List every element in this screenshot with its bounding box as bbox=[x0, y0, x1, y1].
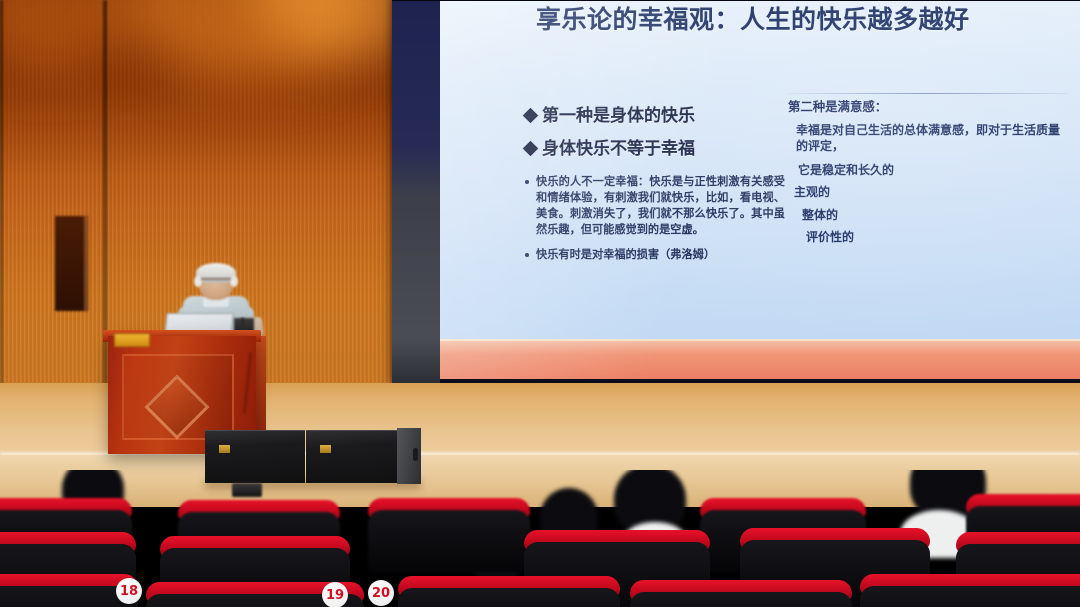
lecture-hall-photo: 享乐论的幸福观：人生的快乐越多越好 第一种是身体的快乐 身体快乐不等于幸福 快乐… bbox=[0, 0, 1080, 607]
door-light-edge bbox=[84, 216, 88, 311]
speaker-brand-badge-icon bbox=[219, 445, 230, 453]
seat-back bbox=[398, 588, 620, 607]
bullet-text: 快乐的人不一定幸福：快乐是与正性刺激有关感受和情绪体验，有刺激我们就快乐，比如，… bbox=[536, 173, 785, 238]
diamond-bullet-icon bbox=[523, 108, 539, 124]
speaker-brand-badge-icon bbox=[320, 445, 331, 453]
wall-shadow-band bbox=[0, 0, 400, 175]
seat-number-badge: 18 bbox=[116, 578, 142, 604]
slide-right-column: 第二种是满意感： 幸福是对自己生活的总体满意感，即对于生活质量的评定， 它是稳定… bbox=[788, 99, 1070, 253]
right-column-item: 整体的 bbox=[802, 208, 1070, 224]
auditorium-seat[interactable] bbox=[860, 574, 1080, 607]
wall-panel-seam bbox=[103, 0, 107, 430]
slide-bullet-item: 快乐的人不一定幸福：快乐是与正性刺激有关感受和情绪体验，有刺激我们就快乐，比如，… bbox=[525, 173, 785, 238]
auditorium-seat[interactable] bbox=[398, 576, 620, 607]
auditorium-seat[interactable] bbox=[630, 580, 852, 607]
screen-left-bezel bbox=[392, 0, 440, 386]
slide-left-column: 第一种是身体的快乐 身体快乐不等于幸福 快乐的人不一定幸福：快乐是与正性刺激有关… bbox=[525, 106, 785, 271]
heading-text: 身体快乐不等于幸福 bbox=[542, 139, 695, 160]
podium-nameplate bbox=[114, 333, 150, 347]
diamond-bullet-icon bbox=[523, 141, 539, 157]
heading-text: 第一种是身体的快乐 bbox=[542, 106, 695, 127]
slide-footer-band bbox=[440, 339, 1080, 379]
right-column-item: 它是稳定和长久的 bbox=[798, 163, 1070, 179]
speaker-ear-right bbox=[230, 276, 238, 287]
seat-back bbox=[630, 592, 852, 607]
round-bullet-icon bbox=[525, 180, 529, 184]
round-bullet-icon bbox=[525, 253, 529, 257]
right-column-paragraph: 幸福是对自己生活的总体满意感，即对于生活质量的评定， bbox=[796, 122, 1070, 154]
slide-title: 享乐论的幸福观：人生的快乐越多越好 bbox=[536, 5, 1056, 36]
right-column-heading: 第二种是满意感： bbox=[788, 99, 1070, 115]
audience-area: 18 19 20 bbox=[0, 470, 1080, 607]
speaker-glasses bbox=[201, 278, 231, 287]
slide-heading-item: 身体快乐不等于幸福 bbox=[525, 139, 785, 160]
presentation-slide: 享乐论的幸福观：人生的快乐越多越好 第一种是身体的快乐 身体快乐不等于幸福 快乐… bbox=[440, 1, 1080, 379]
right-column-item: 评价性的 bbox=[806, 230, 1070, 246]
column-divider-rule bbox=[788, 93, 1068, 94]
seat-back bbox=[860, 586, 1080, 607]
right-column-item: 主观的 bbox=[794, 185, 1070, 201]
monitor-handle-icon bbox=[413, 448, 418, 461]
bullet-text: 快乐有时是对幸福的损害（弗洛姆） bbox=[536, 246, 715, 262]
slide-bullet-item: 快乐有时是对幸福的损害（弗洛姆） bbox=[525, 246, 785, 262]
slide-heading-item: 第一种是身体的快乐 bbox=[525, 106, 785, 127]
auditorium-seat[interactable] bbox=[368, 498, 530, 572]
seat-number-badge: 20 bbox=[368, 580, 394, 606]
seat-number-badge: 19 bbox=[322, 582, 348, 607]
wall-panel-seam bbox=[0, 0, 3, 430]
seat-back bbox=[368, 510, 530, 572]
